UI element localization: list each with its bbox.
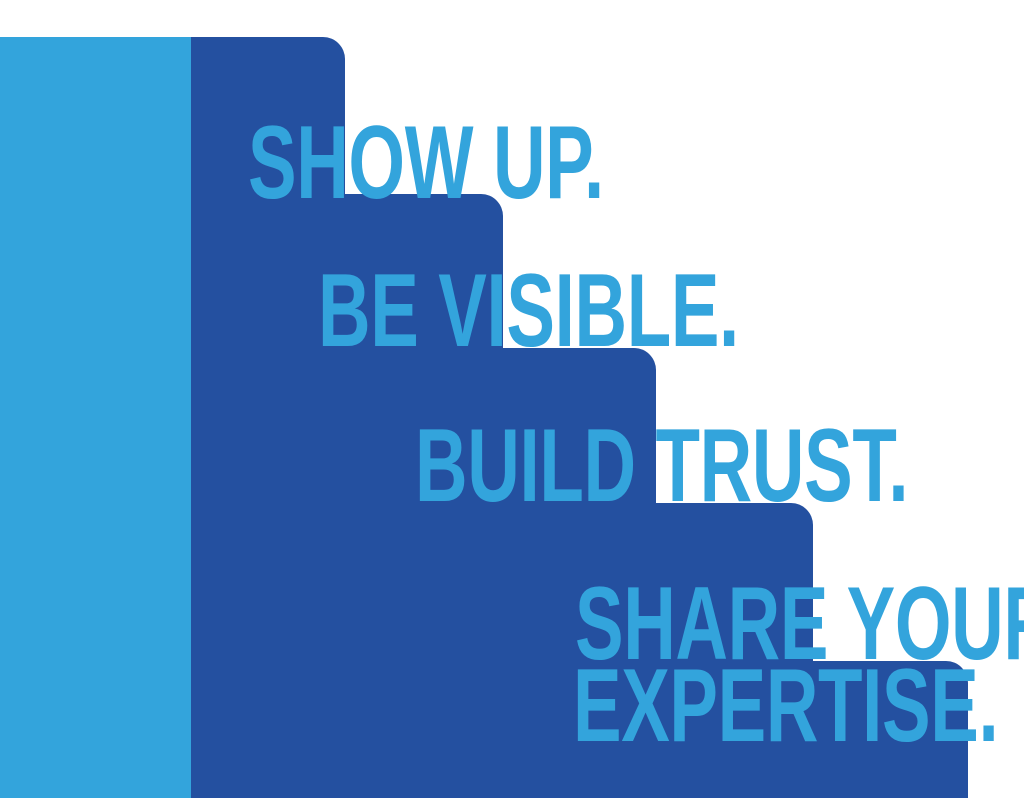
headline-text-layer: SHOW UP. BE VISIBLE. BUILD TRUST. SHARE … xyxy=(0,0,1024,798)
headline-show-up: SHOW UP. xyxy=(248,111,604,215)
poster-canvas: SHOW UP. BE VISIBLE. BUILD TRUST. SHARE … xyxy=(0,0,1024,798)
headline-build-trust: BUILD TRUST. xyxy=(415,414,908,518)
headline-expertise: EXPERTISE. xyxy=(573,654,998,758)
headline-be-visible: BE VISIBLE. xyxy=(318,259,739,363)
